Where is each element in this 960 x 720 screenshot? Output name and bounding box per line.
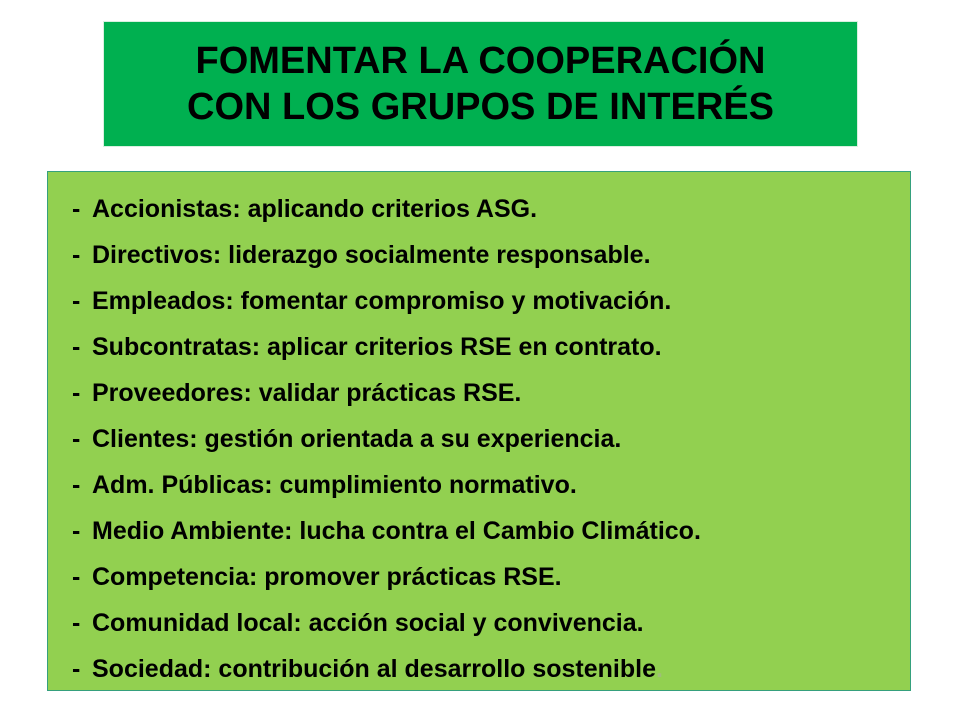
list-item-label: Accionistas: aplicando criterios ASG.	[92, 186, 537, 232]
list-item: - Medio Ambiente: lucha contra el Cambio…	[58, 508, 900, 554]
bullet-dash-icon: -	[58, 600, 92, 646]
list-item: - Empleados: fomentar compromiso y motiv…	[58, 278, 900, 324]
bullet-dash-icon: -	[58, 186, 92, 232]
bullet-dash-icon: -	[58, 278, 92, 324]
list-item-label: Sociedad: contribución al desarrollo sos…	[92, 646, 656, 692]
list-item: - Adm. Públicas: cumplimiento normativo.	[58, 462, 900, 508]
title-line-2: CON LOS GRUPOS DE INTERÉS	[187, 84, 774, 130]
list-item-label: Directivos: liderazgo socialmente respon…	[92, 232, 651, 278]
bullet-dash-icon: -	[58, 416, 92, 462]
bullet-dash-icon: -	[58, 508, 92, 554]
list-item-label: Empleados: fomentar compromiso y motivac…	[92, 278, 671, 324]
bullet-dash-icon: -	[58, 554, 92, 600]
list-item: - Competencia: promover prácticas RSE.	[58, 554, 900, 600]
stakeholder-list-box: - Accionistas: aplicando criterios ASG. …	[47, 171, 911, 691]
slide-canvas: FOMENTAR LA COOPERACIÓN CON LOS GRUPOS D…	[0, 0, 960, 720]
trailing-period: .	[656, 646, 663, 692]
list-item: - Subcontratas: aplicar criterios RSE en…	[58, 324, 900, 370]
list-item-label: Adm. Públicas: cumplimiento normativo.	[92, 462, 577, 508]
list-item: - Comunidad local: acción social y convi…	[58, 600, 900, 646]
bullet-dash-icon: -	[58, 324, 92, 370]
bullet-dash-icon: -	[58, 462, 92, 508]
title-line-1: FOMENTAR LA COOPERACIÓN	[196, 38, 766, 84]
bullet-dash-icon: -	[58, 370, 92, 416]
list-item: - Proveedores: validar prácticas RSE.	[58, 370, 900, 416]
list-item: - Clientes: gestión orientada a su exper…	[58, 416, 900, 462]
bullet-dash-icon: -	[58, 232, 92, 278]
bullet-dash-icon: -	[58, 646, 92, 692]
list-item-label: Competencia: promover prácticas RSE.	[92, 554, 562, 600]
list-item: - Directivos: liderazgo socialmente resp…	[58, 232, 900, 278]
list-item-label: Clientes: gestión orientada a su experie…	[92, 416, 621, 462]
list-item-label: Comunidad local: acción social y convive…	[92, 600, 644, 646]
list-item: - Sociedad: contribución al desarrollo s…	[58, 646, 900, 692]
list-item-label: Subcontratas: aplicar criterios RSE en c…	[92, 324, 662, 370]
list-item: - Accionistas: aplicando criterios ASG.	[58, 186, 900, 232]
title-banner: FOMENTAR LA COOPERACIÓN CON LOS GRUPOS D…	[103, 21, 858, 147]
list-item-label: Proveedores: validar prácticas RSE.	[92, 370, 521, 416]
stakeholder-list: - Accionistas: aplicando criterios ASG. …	[58, 186, 900, 692]
list-item-label: Medio Ambiente: lucha contra el Cambio C…	[92, 508, 701, 554]
